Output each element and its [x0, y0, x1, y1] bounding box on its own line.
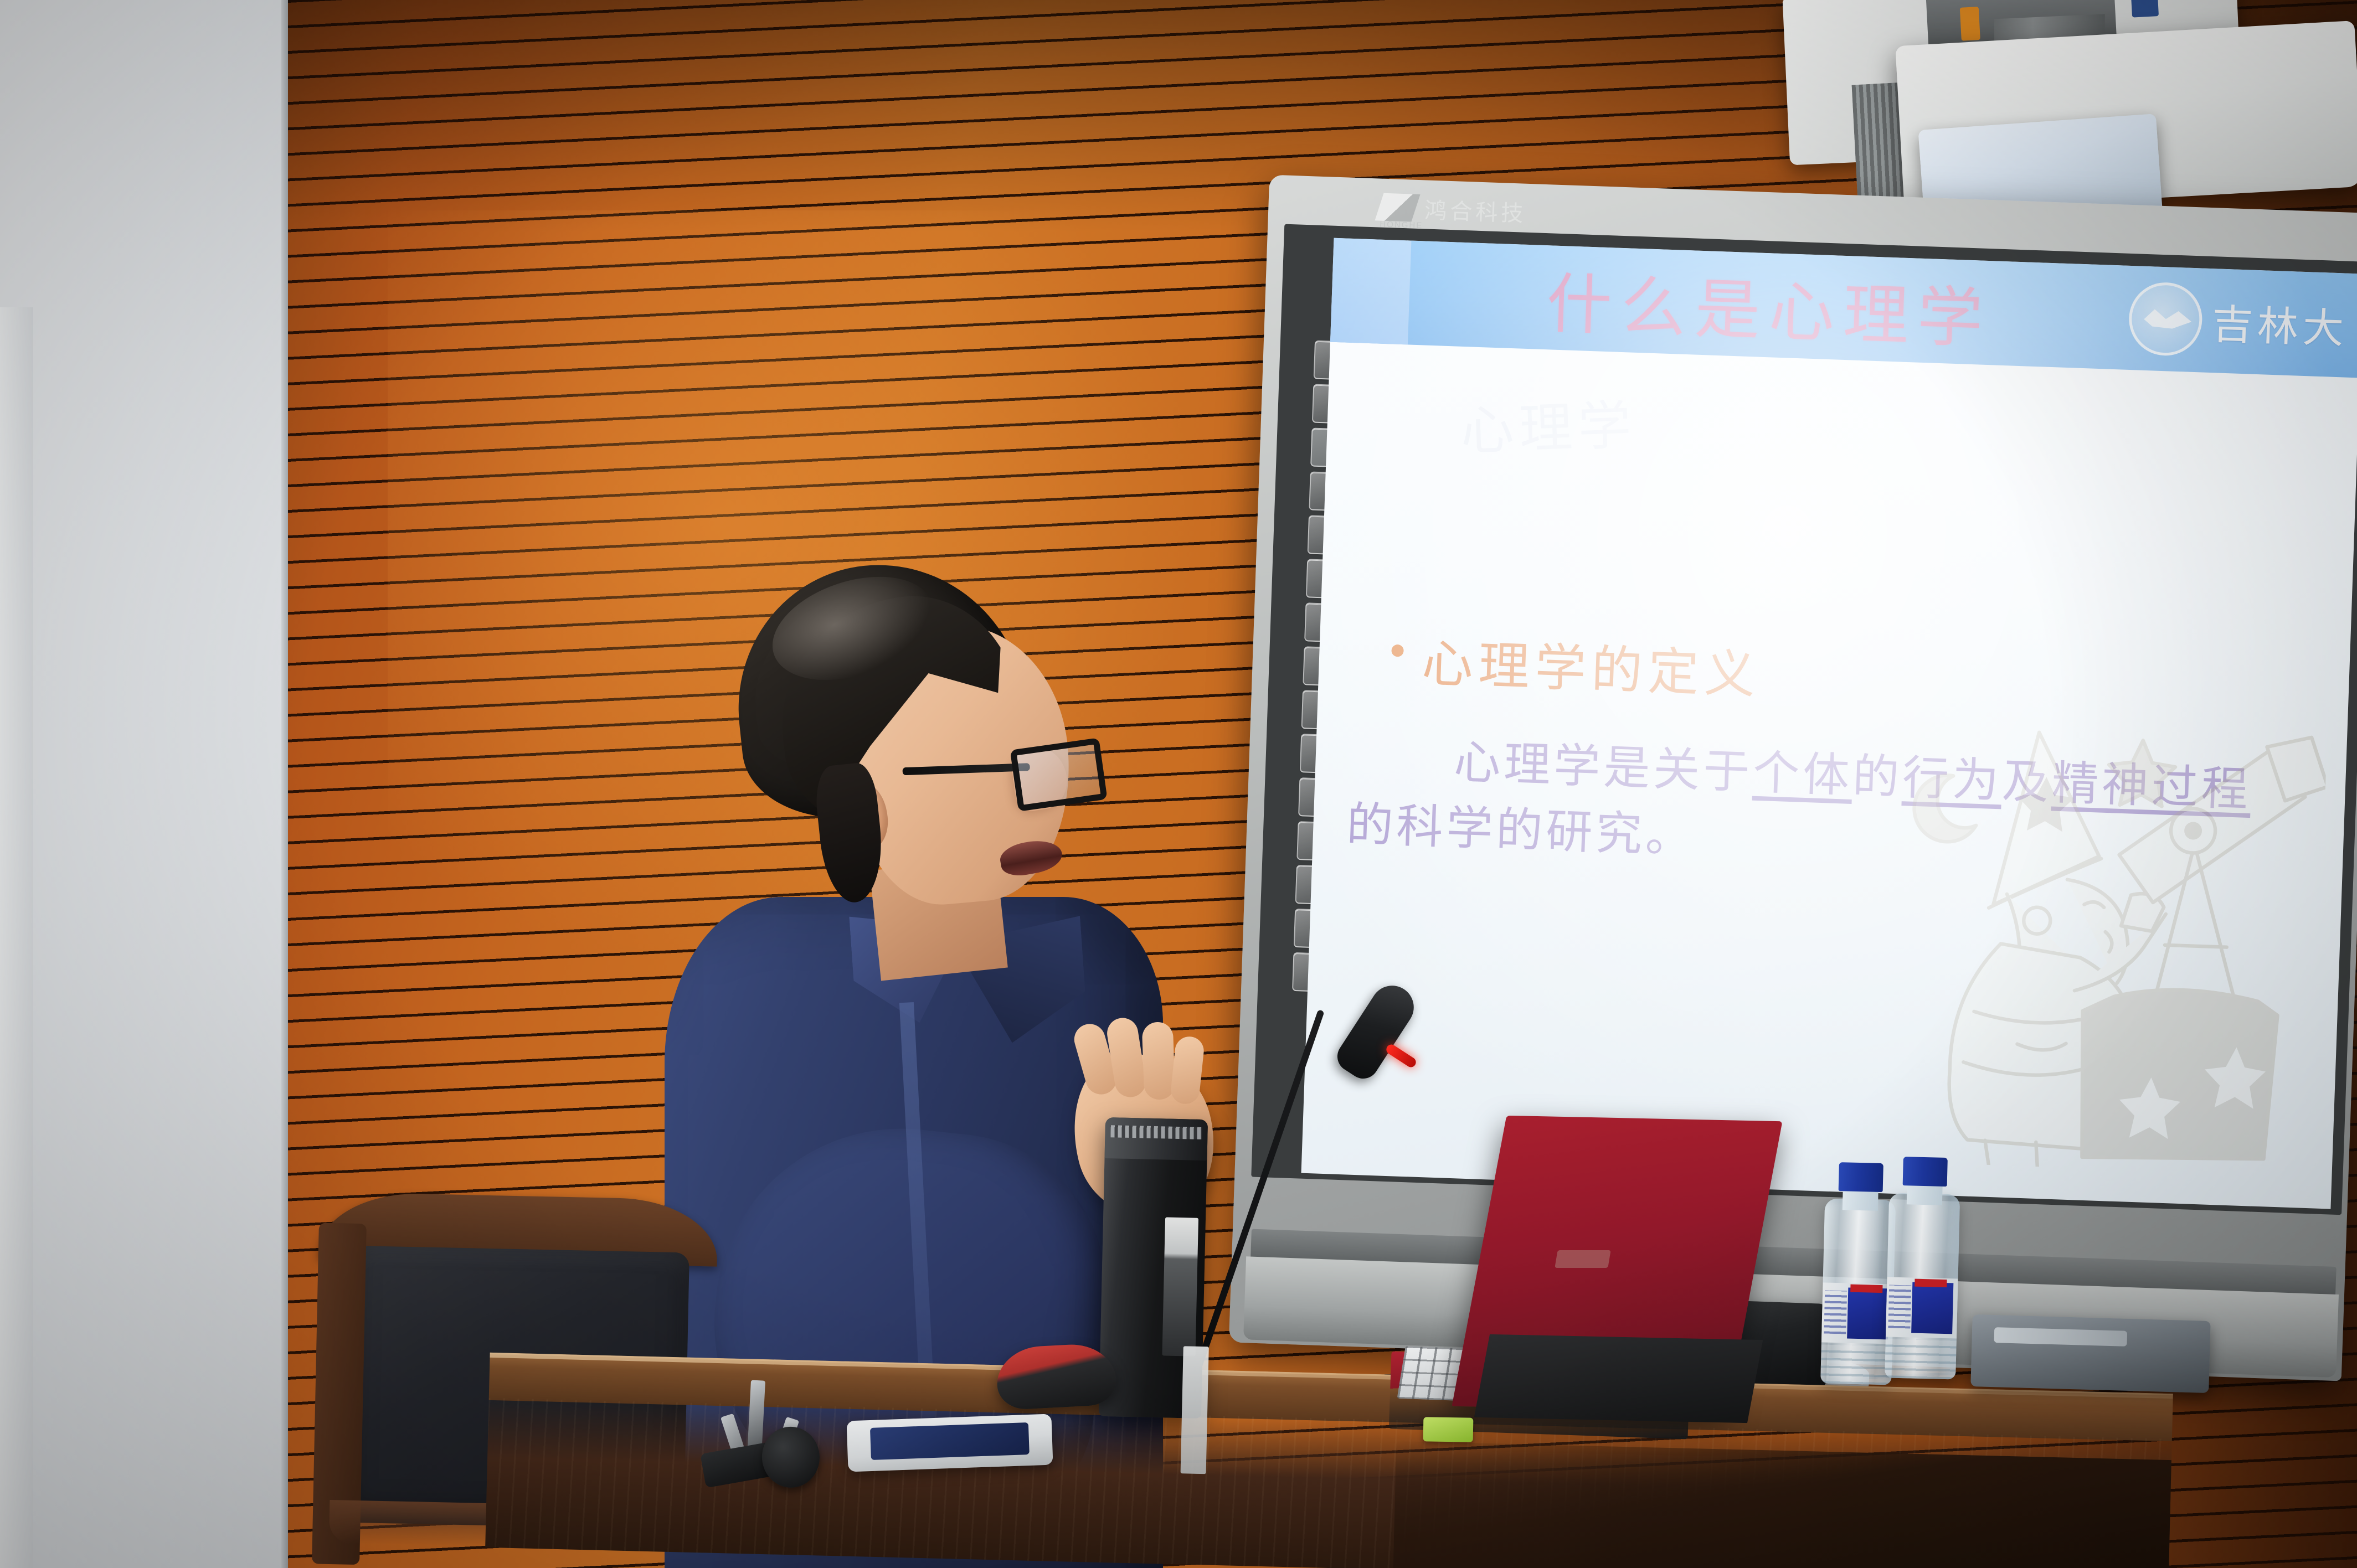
label-blue-block — [1847, 1288, 1889, 1340]
equipment-tray[interactable] — [1970, 1314, 2210, 1393]
mount-screw-blue — [2130, 0, 2159, 18]
bottle-ridges — [1820, 1344, 1892, 1385]
laptop-brand-badge — [1555, 1250, 1610, 1268]
wizard-with-telescope-illustration — [1891, 708, 2328, 1176]
projected-slide: 什么是心理学 吉林大 心理学 心理学的定义 心理学是关于个体的行为及精神过程 的… — [1301, 238, 2357, 1209]
bottle-cap[interactable] — [1839, 1162, 1883, 1192]
slide-title: 什么是心理学 — [1408, 245, 2130, 365]
smartphone-screen[interactable] — [870, 1422, 1030, 1460]
glasses-temple-arm — [903, 763, 1030, 775]
key-blade — [747, 1380, 765, 1452]
brand-mark-icon — [1375, 193, 1420, 222]
laptop[interactable] — [1390, 1118, 1811, 1440]
bottle-cap[interactable] — [1903, 1157, 1948, 1187]
label-red-strip — [1850, 1285, 1882, 1293]
thermos-label-lower — [1181, 1346, 1209, 1474]
university-seal: 吉林大 — [2127, 266, 2357, 378]
finger — [1142, 1022, 1176, 1100]
body-underline-1: 个体 — [1752, 747, 1854, 802]
glasses-lens — [1010, 737, 1108, 811]
white-wall — [0, 0, 294, 1568]
desk-front-panel — [1393, 1441, 2171, 1568]
label-red-strip — [1915, 1279, 1947, 1287]
key-ring-fob — [760, 1425, 821, 1489]
usb-drive[interactable] — [1423, 1417, 1474, 1442]
mount-screw-orange — [1960, 7, 1980, 41]
thermos-label — [1162, 1217, 1198, 1356]
lecture-hall-photograph: EPSON 鸿合科技 HONGHE ▤ ▭ ▰ ▢ ▣ ▥ ✂ ✎ ▬ ↶ ◇ … — [0, 0, 2357, 1568]
thermos-cap[interactable] — [1104, 1117, 1208, 1160]
brand-name-en: HONGHE — [1380, 220, 1423, 231]
slide-bullet-item: 心理学的定义 — [1390, 621, 1762, 708]
smartphone[interactable] — [847, 1414, 1053, 1472]
body-line1-prefix: 心理学是关于 — [1453, 737, 1754, 799]
water-bottle-2[interactable] — [1885, 1156, 1961, 1379]
slide-header-tab — [1330, 238, 1411, 345]
keys[interactable] — [697, 1373, 864, 1495]
label-blue-block — [1911, 1282, 1953, 1334]
bullet-dot-icon — [1391, 644, 1404, 657]
slide-watermark: 心理学 — [1459, 382, 1638, 465]
bottle-ridges — [1885, 1339, 1957, 1379]
seal-university-name: 吉林大 — [2211, 291, 2349, 355]
laptop-lid-hinge-band — [1474, 1334, 1763, 1423]
label-text-block — [1888, 1285, 1911, 1329]
whiteboard-brand: 鸿合科技 HONGHE — [1379, 191, 1527, 228]
label-text-block — [1824, 1291, 1847, 1334]
bottle-label — [1886, 1277, 1958, 1338]
body-line1-mid: 的 — [1852, 751, 1903, 804]
seal-emblem-icon — [2128, 281, 2204, 357]
slide-bullet-text: 心理学的定义 — [1421, 622, 1762, 708]
bottle-label — [1821, 1282, 1894, 1344]
brand-name-cn: 鸿合科技 — [1424, 192, 1527, 228]
